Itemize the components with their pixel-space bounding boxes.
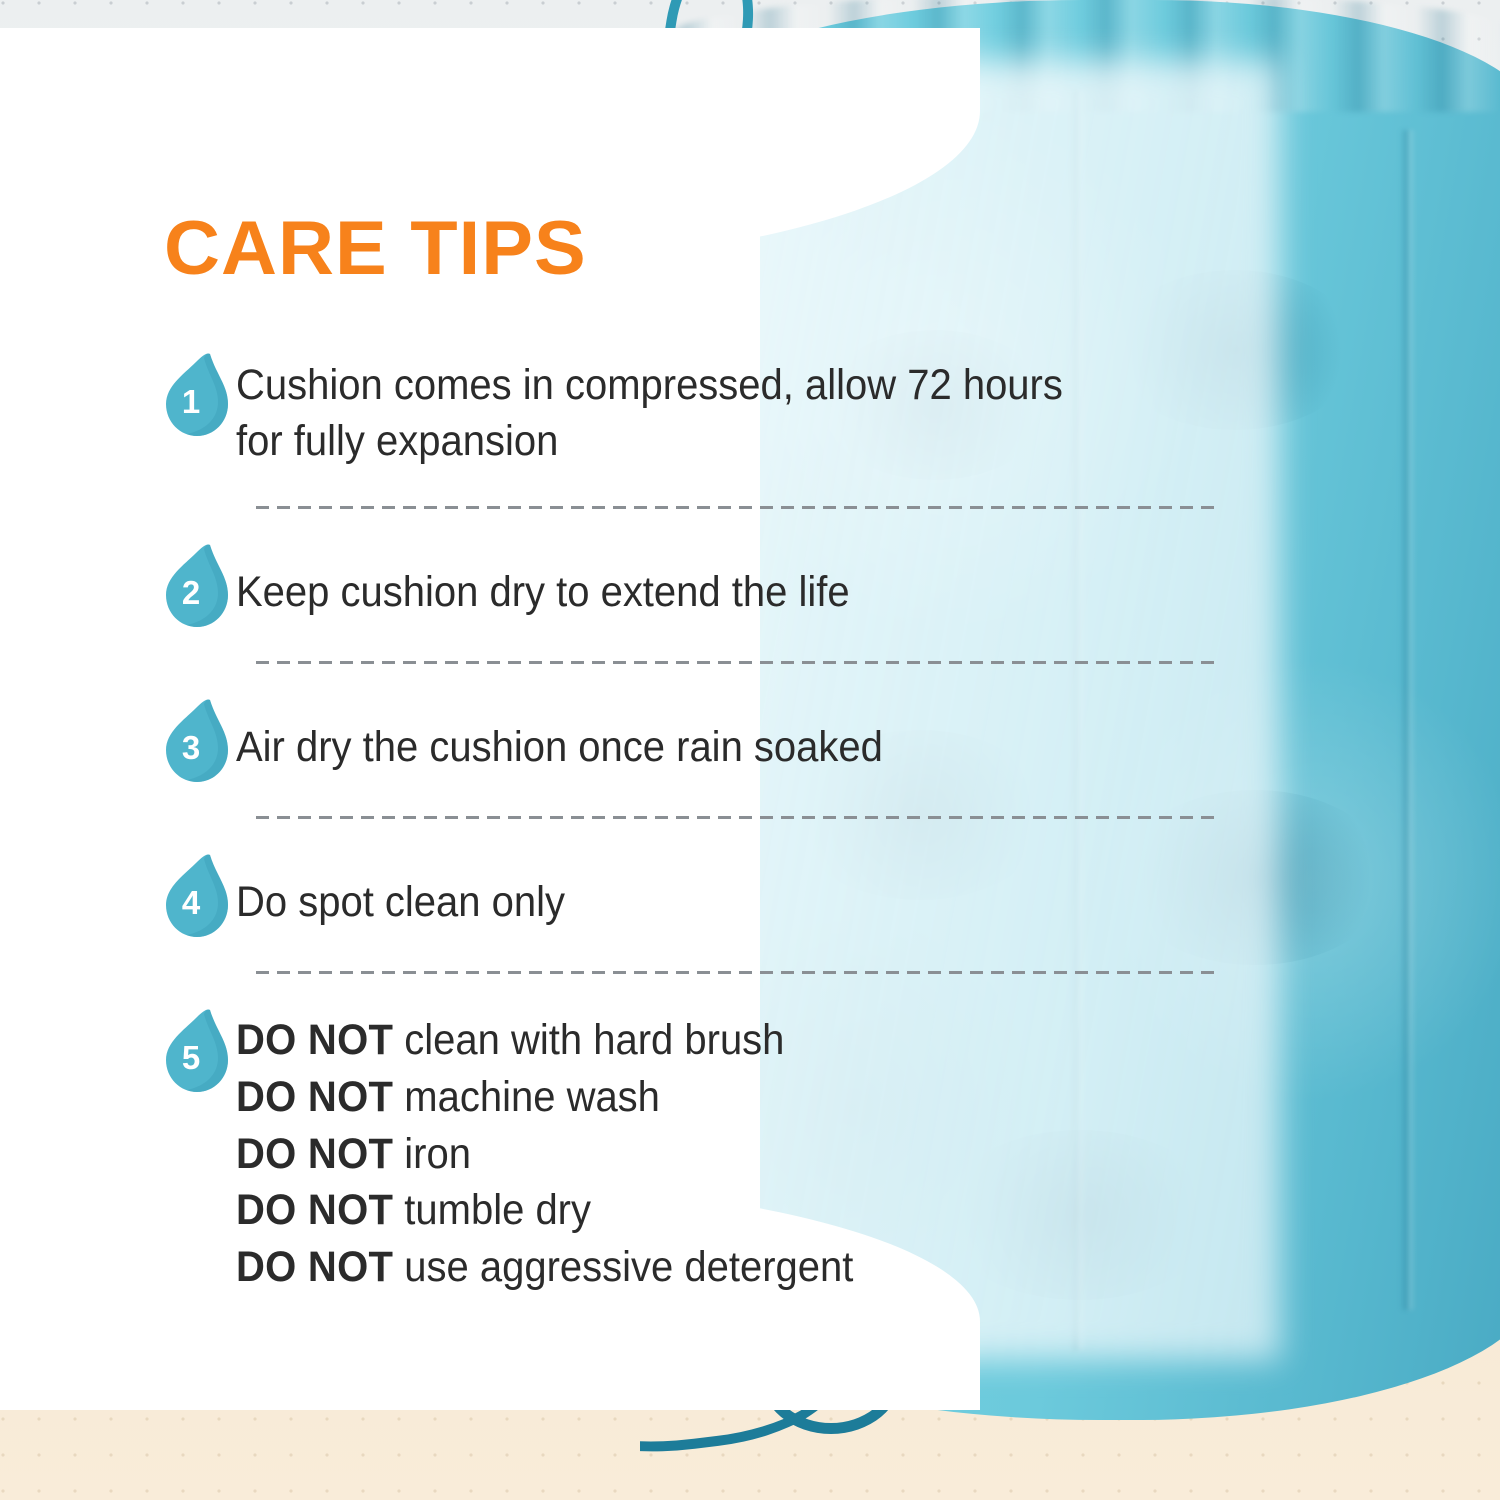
- prohibition-detail: tumble dry: [404, 1186, 591, 1234]
- list-item: 4 Do spot clean only: [160, 853, 1220, 949]
- content-layer: CARE TIPS 1 Cushion comes in compressed,…: [0, 0, 1500, 1500]
- care-tips-list: 1 Cushion comes in compressed, allow 72 …: [160, 352, 1220, 1296]
- tip-number: 3: [160, 698, 222, 782]
- do-not-prefix: DO NOT: [236, 1130, 393, 1178]
- tip-number: 4: [160, 853, 222, 937]
- do-not-prefix: DO NOT: [236, 1186, 393, 1234]
- prohibition-line: DO NOT tumble dry: [236, 1182, 1151, 1239]
- separator: [256, 661, 1220, 664]
- separator: [256, 506, 1220, 509]
- tip-badge-4: 4: [160, 853, 236, 949]
- prohibition-line: DO NOT clean with hard brush: [236, 1012, 1151, 1069]
- page-title: CARE TIPS: [164, 205, 587, 292]
- prohibition-line: DO NOT use aggressive detergent: [236, 1239, 1151, 1296]
- tip-text: Cushion comes in compressed, allow 72 ho…: [236, 352, 1151, 470]
- tip-badge-2: 2: [160, 543, 236, 639]
- tip-number: 1: [160, 352, 222, 436]
- tip-badge-1: 1: [160, 352, 236, 448]
- tip-badge-5: 5: [160, 1008, 236, 1104]
- prohibition-detail: machine wash: [404, 1073, 660, 1121]
- prohibition-detail: iron: [404, 1130, 471, 1178]
- tip-text: Air dry the cushion once rain soaked: [236, 698, 1151, 776]
- prohibition-detail: use aggressive detergent: [404, 1243, 853, 1291]
- tip-text: Keep cushion dry to extend the life: [236, 543, 1151, 621]
- prohibition-line: DO NOT machine wash: [236, 1069, 1151, 1126]
- do-not-prefix: DO NOT: [236, 1073, 393, 1121]
- prohibition-lines: DO NOT clean with hard brush DO NOT mach…: [236, 1008, 1151, 1296]
- care-tips-infographic: CARE TIPS 1 Cushion comes in compressed,…: [0, 0, 1500, 1500]
- do-not-prefix: DO NOT: [236, 1016, 393, 1064]
- do-not-prefix: DO NOT: [236, 1243, 393, 1291]
- tip-number: 2: [160, 543, 222, 627]
- separator: [256, 971, 1220, 974]
- tip-number: 5: [160, 1008, 222, 1092]
- list-item: 1 Cushion comes in compressed, allow 72 …: [160, 352, 1220, 480]
- list-item: 3 Air dry the cushion once rain soaked: [160, 698, 1220, 794]
- tip-badge-3: 3: [160, 698, 236, 794]
- list-item: 2 Keep cushion dry to extend the life: [160, 543, 1220, 639]
- prohibition-line: DO NOT iron: [236, 1126, 1151, 1183]
- list-item-prohibitions: 5 DO NOT clean with hard brush DO NOT ma…: [160, 1008, 1220, 1296]
- separator: [256, 816, 1220, 819]
- prohibition-detail: clean with hard brush: [404, 1016, 784, 1064]
- tip-text: Do spot clean only: [236, 853, 1151, 931]
